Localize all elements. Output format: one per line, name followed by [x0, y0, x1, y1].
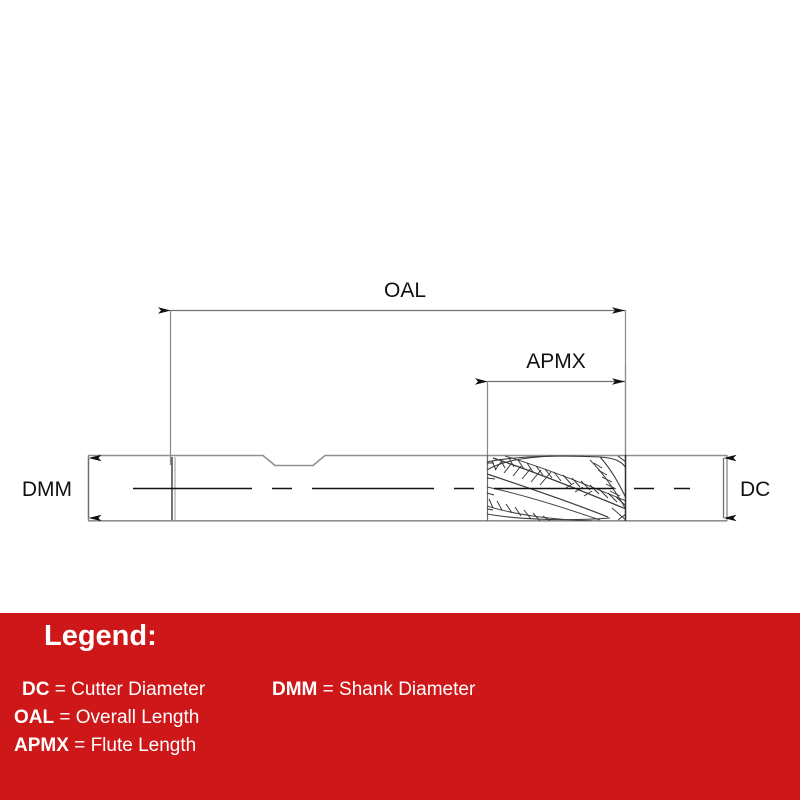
dmm-label: DMM: [22, 478, 72, 501]
oal-label: OAL: [384, 279, 426, 302]
legend-text-dmm: Shank Diameter: [339, 679, 475, 700]
legend-title: Legend:: [44, 620, 157, 653]
legend-abbr-apmx: APMX: [14, 735, 69, 756]
body-top-profile: [88, 456, 727, 466]
legend-entry-oal: OAL = Overall Length: [14, 707, 199, 729]
dimension-apmx: APMX: [488, 350, 626, 470]
legend-entry-dmm: DMM = Shank Diameter: [272, 679, 475, 701]
legend-sep-oal: =: [54, 707, 76, 728]
legend-abbr-dmm: DMM: [272, 679, 317, 700]
legend-sep-dmm: =: [317, 679, 339, 700]
dc-label: DC: [740, 478, 770, 501]
dimension-dc: DC: [724, 458, 771, 518]
technical-drawing-canvas: OAL APMX: [0, 0, 800, 613]
legend-banner: Legend: DC = Cutter Diameter DMM = Shank…: [0, 613, 800, 800]
dimension-dmm: DMM: [22, 458, 89, 518]
legend-entry-dc: DC = Cutter Diameter: [22, 679, 205, 701]
apmx-label: APMX: [526, 350, 586, 373]
legend-text-dc: Cutter Diameter: [71, 679, 205, 700]
end-mill-drawing-svg: OAL APMX: [0, 0, 800, 613]
legend-sep-dc: =: [49, 679, 71, 700]
legend-entry-apmx: APMX = Flute Length: [14, 735, 196, 757]
legend-abbr-oal: OAL: [14, 707, 54, 728]
legend-text-apmx: Flute Length: [91, 735, 197, 756]
legend-sep-apmx: =: [69, 735, 91, 756]
legend-text-oal: Overall Length: [76, 707, 200, 728]
legend-abbr-dc: DC: [22, 679, 49, 700]
page-root: OAL APMX: [0, 0, 800, 800]
